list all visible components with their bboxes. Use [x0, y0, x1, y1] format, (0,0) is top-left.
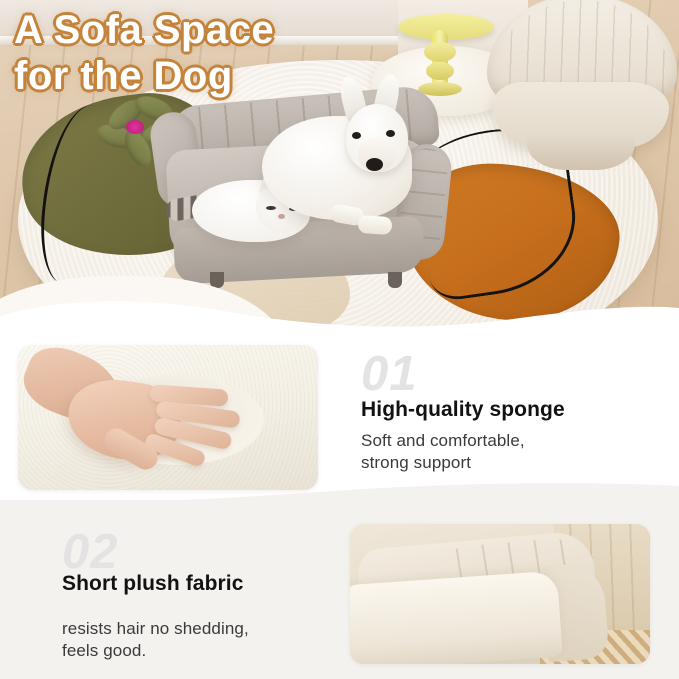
section-wave-divider — [0, 474, 679, 508]
feature-02-number: 02 — [62, 528, 119, 577]
headline-line-1: A Sofa Space — [14, 8, 274, 52]
dog-nose — [366, 158, 383, 171]
flower-center — [126, 120, 144, 134]
feature-02-title: Short plush fabric — [62, 572, 243, 595]
cat-eye — [266, 206, 276, 210]
feature-01-title: High-quality sponge — [361, 398, 565, 421]
plush-sofa-seat — [350, 571, 563, 664]
product-listing-image: A Sofa Space for the Dog 01 High-quality… — [0, 0, 679, 679]
cat-nose — [278, 214, 285, 219]
feature-02-photo-plush-sofa-closeup — [350, 524, 650, 664]
hero-lifestyle-photo: A Sofa Space for the Dog — [0, 0, 679, 340]
dog-eye — [352, 132, 361, 139]
feature-01-number: 01 — [361, 350, 418, 399]
dog-eye — [386, 130, 395, 137]
feature-01-description: Soft and comfortable, strong support — [361, 430, 661, 475]
cream-armchair — [487, 0, 677, 174]
yellow-pedestal-knob-upper — [424, 42, 456, 62]
hero-headline: A Sofa Space for the Dog — [14, 8, 414, 99]
feature-01-photo-hand-pressing-foam — [18, 345, 318, 490]
armchair-base — [527, 136, 635, 170]
white-dog — [300, 76, 480, 266]
headline-line-2: for the Dog — [14, 54, 414, 100]
dog-paw — [357, 215, 392, 235]
feature-02-description: resists hair no shedding, feels good. — [62, 618, 352, 663]
hand — [24, 353, 254, 479]
pet-sofa-leg — [388, 272, 402, 288]
